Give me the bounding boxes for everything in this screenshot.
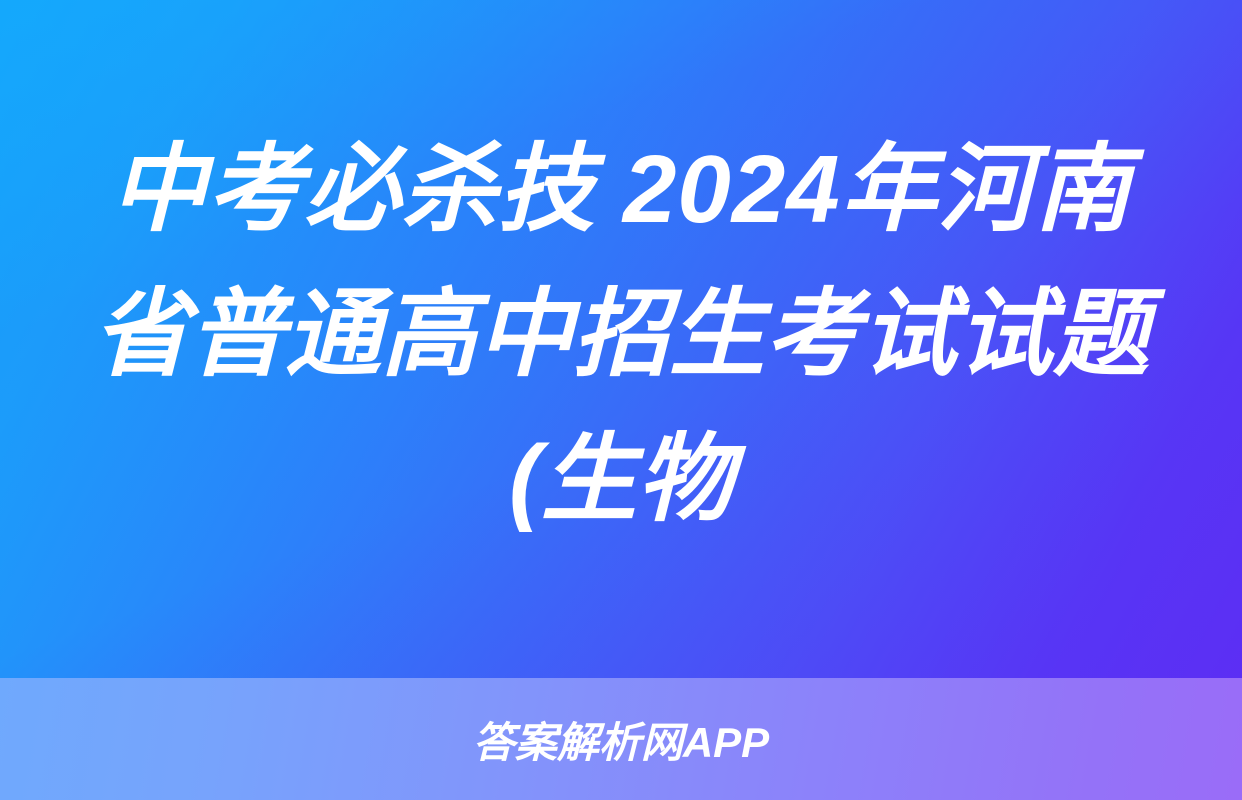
watermark: 答案解析网APP [0, 678, 1242, 800]
poster-canvas: 中考必杀技 2024年河南 省普通高中招生考试试题 (生物 答案解析网APP [0, 0, 1242, 800]
title-line-1: 中考必杀技 2024年河南 [110, 117, 1131, 262]
title-line-2: 省普通高中招生考试试题 [93, 262, 1149, 407]
watermark-label: 答案解析网APP [473, 709, 769, 770]
title-line-3: (生物 [509, 407, 733, 552]
poster-title: 中考必杀技 2024年河南 省普通高中招生考试试题 (生物 [0, 0, 1242, 678]
